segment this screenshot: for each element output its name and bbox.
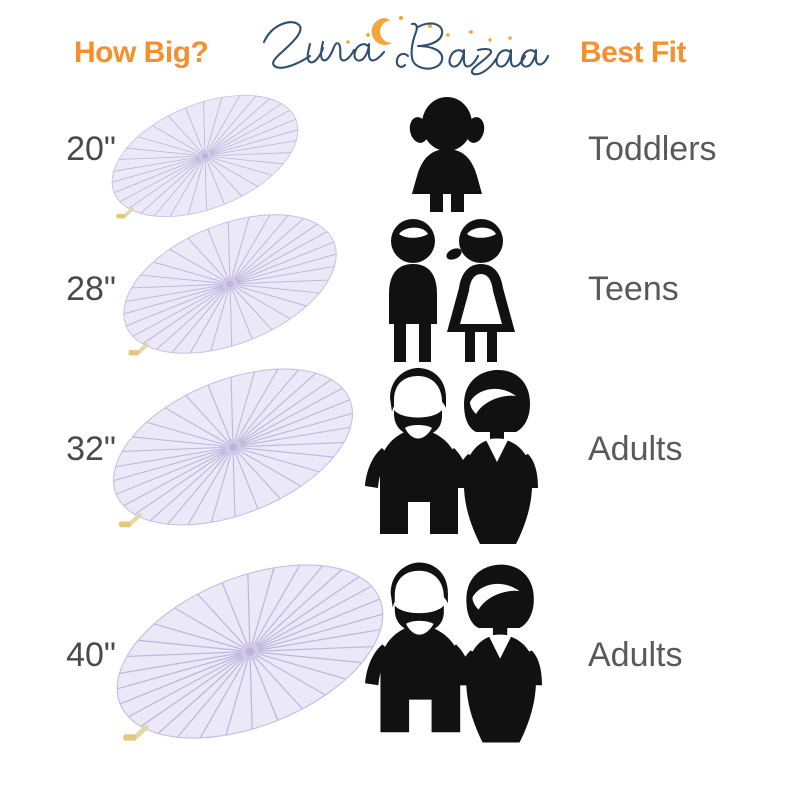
adult-man-figure [365, 563, 476, 733]
fit-label: Teens [588, 270, 679, 309]
size-row: 32" [0, 352, 800, 552]
parasol-icon [100, 544, 400, 759]
adult-couple-icon [360, 362, 538, 547]
toddler-girl-icon [392, 94, 502, 212]
luna-bazaar-logo-svg [258, 12, 548, 82]
star-dot-icon [346, 16, 512, 44]
logo-word-luna [264, 22, 384, 68]
adult-woman-figure [454, 565, 542, 743]
size-guide-infographic: How Big? [0, 0, 800, 800]
brand-logo [258, 12, 548, 82]
fit-label: Adults [588, 430, 683, 469]
teen-couple-icon [375, 214, 525, 362]
size-label: 28" [20, 270, 116, 309]
fit-label: Adults [588, 636, 683, 675]
size-row: 40" [0, 548, 800, 768]
header-how-big-label: How Big? [74, 36, 208, 70]
fit-label: Toddlers [588, 130, 717, 169]
adult-man-figure [365, 368, 474, 534]
size-row: 28" [0, 208, 800, 368]
teen-boy-figure [389, 219, 437, 362]
adult-woman-figure [452, 370, 538, 544]
parasol-icon [110, 204, 350, 364]
crescent-moon-icon [372, 18, 393, 45]
teen-girl-figure [445, 219, 515, 362]
header-best-fit-label: Best Fit [580, 36, 686, 70]
adult-couple-icon [360, 556, 542, 746]
parasol-icon [98, 352, 368, 542]
